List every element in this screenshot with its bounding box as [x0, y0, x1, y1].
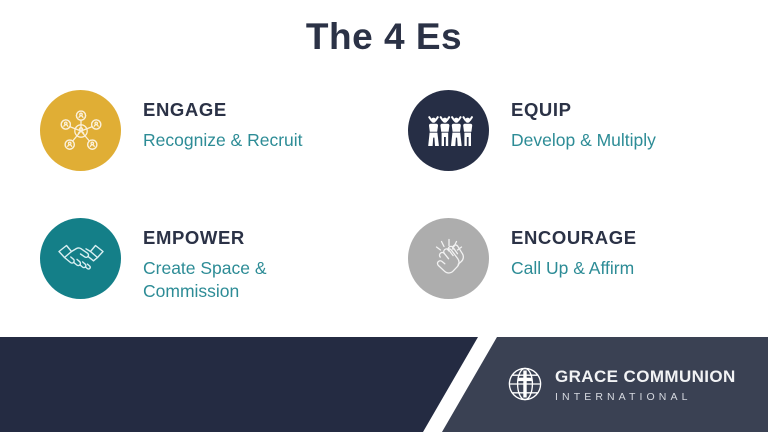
brand-name-secondary: INTERNATIONAL [555, 391, 692, 403]
clapping-hands-icon [427, 237, 471, 281]
empower-text-block: EMPOWER Create Space & Commission [121, 218, 308, 302]
item-engage[interactable]: ENGAGE Recognize & Recruit [40, 90, 390, 171]
slide-canvas: The 4 Es [0, 0, 768, 432]
globe-cross-icon [505, 364, 545, 409]
engage-text-block: ENGAGE Recognize & Recruit [121, 90, 303, 152]
page-title: The 4 Es [0, 16, 768, 58]
footer: GRACE COMMUNION INTERNATIONAL [0, 337, 768, 432]
equip-text-block: EQUIP Develop & Multiply [489, 90, 656, 152]
equip-subheading: Develop & Multiply [511, 129, 656, 151]
equip-heading: EQUIP [511, 100, 656, 120]
brand-logo: GRACE COMMUNION INTERNATIONAL [505, 364, 736, 409]
encourage-text-block: ENCOURAGE Call Up & Affirm [489, 218, 637, 280]
four-es-grid: ENGAGE Recognize & Recruit [0, 90, 768, 330]
equip-icon-circle [408, 90, 489, 171]
engage-heading: ENGAGE [143, 100, 303, 120]
handshake-icon [56, 239, 106, 279]
brand-logo-text: GRACE COMMUNION INTERNATIONAL [545, 368, 736, 406]
empower-heading: EMPOWER [143, 228, 308, 248]
engage-subheading: Recognize & Recruit [143, 129, 303, 151]
empower-subheading: Create Space & Commission [143, 257, 308, 302]
brand-name-primary: GRACE COMMUNION [555, 367, 736, 386]
item-equip[interactable]: EQUIP Develop & Multiply [408, 90, 758, 171]
engage-icon-circle [40, 90, 121, 171]
item-encourage[interactable]: ENCOURAGE Call Up & Affirm [408, 218, 758, 299]
encourage-heading: ENCOURAGE [511, 228, 637, 248]
network-people-icon [58, 108, 104, 154]
people-raising-arms-icon [425, 111, 473, 151]
encourage-icon-circle [408, 218, 489, 299]
empower-icon-circle [40, 218, 121, 299]
encourage-subheading: Call Up & Affirm [511, 257, 637, 279]
item-empower[interactable]: EMPOWER Create Space & Commission [40, 218, 390, 302]
